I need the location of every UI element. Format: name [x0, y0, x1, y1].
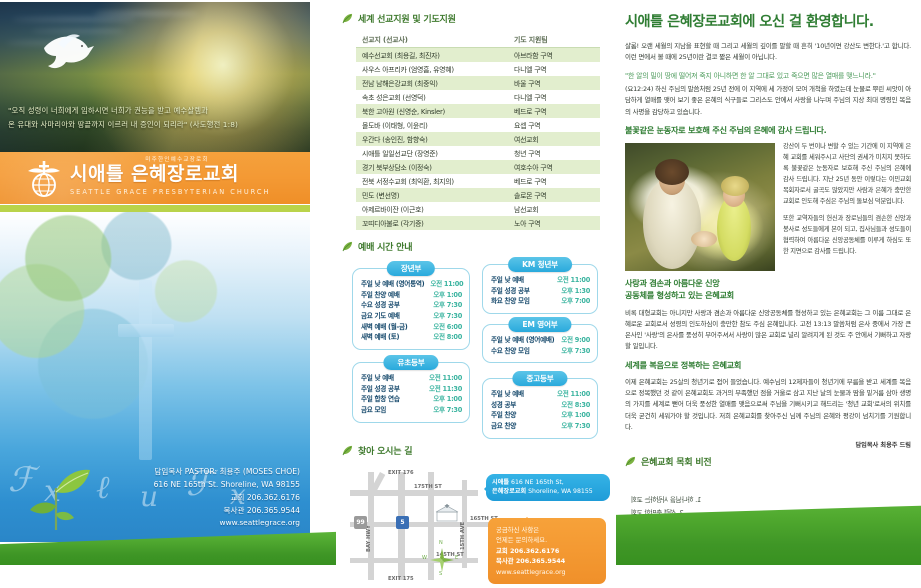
mission-field-cell: 사우스 아프리카 (엄영흠, 유영혜) — [356, 62, 508, 76]
church-logo-banner: 미주한인예수교장로회 시애틀 은혜장로교회 SEATTLE GRACE PRES… — [0, 152, 310, 204]
schedule-item-name: 금요 찬양 — [491, 421, 516, 432]
directions-section-header: 찾아 오시는 길 — [342, 444, 616, 457]
schedule-row: 주일 찬양 예배오후 1:00 — [361, 290, 462, 301]
mission-field-cell: 속초 성은교회 (선영덕) — [356, 90, 508, 104]
mission-field-cell: 예수선교회 (최용길, 최진자) — [356, 48, 508, 63]
mission-prayerteam-cell: 솔로몬 구역 — [508, 188, 600, 202]
mission-prayerteam-cell: 여선교회 — [508, 132, 600, 146]
leaf-bullet-icon — [342, 241, 353, 252]
schedule-row: 주일 합창 연습오후 1:00 — [361, 394, 462, 405]
mission-section-header: 세계 선교지원 및 기도지원 — [342, 12, 616, 25]
schedule-item-time: 오전 11:00 — [423, 373, 462, 384]
schedule-row: 금요 찬양오후 7:30 — [491, 421, 590, 432]
church-building-map-icon — [434, 504, 460, 522]
mission-field-cell: 민도 (변선명) — [356, 188, 508, 202]
callout-address-1: 616 NE 165th St, — [511, 479, 564, 486]
schedule-box-children: 유초등부 주일 낮 예배오전 11:00주일 성경 공부오전 11:30주일 합… — [352, 362, 470, 423]
mission-field-cell: 경기 북부상담소 (이정숙) — [356, 160, 508, 174]
schedule-box-km-youngadult: KM 청년부 주일 낮 예배오전 11:00주일 성경 공부오후 1:30화요 … — [482, 264, 598, 314]
callout-church-name-2: 은혜장로교회 — [492, 488, 526, 495]
vision-section-header: 은혜교회 목회 비전 — [625, 455, 911, 468]
compass-s: S — [439, 571, 442, 577]
mission-prayerteam-cell: 다니엘 구역 — [508, 62, 600, 76]
mission-field-cell: 전남 남해은강교회 (최중익) — [356, 76, 508, 90]
schedule-item-time: 오후 1:30 — [555, 286, 590, 297]
interstate-5-shield-icon: 5 — [396, 516, 409, 529]
schedule-title-em: EM 영어부 — [508, 317, 571, 332]
schedule-item-name: 주일 낮 예배 (영어예배) — [491, 335, 554, 346]
address-line: 616 NE 165th St. Shoreline, WA 98155 — [86, 478, 300, 491]
mission-field-cell: 우간다 (송인진, 함향숙) — [356, 132, 508, 146]
mission-table-row: 민도 (변선명)솔로몬 구역 — [356, 188, 600, 202]
mission-col-prayerteam: 기도 지원팀 — [508, 32, 600, 48]
website-line[interactable]: www.seattlegrace.org — [86, 517, 300, 530]
schedule-box-adult: 장년부 주일 낮 예배 (영어통역)오전 11:00주일 찬양 예배오후 1:0… — [352, 268, 470, 350]
schedule-item-name: 금요 모임 — [361, 405, 386, 416]
schedule-item-name: 주일 찬양 예배 — [361, 290, 400, 301]
schedule-item-time: 오후 7:30 — [555, 421, 590, 432]
schedule-item-time: 오전 11:00 — [551, 389, 590, 400]
subheading-community: 사랑과 겸손과 아름다운 신앙 공동체를 형성하고 있는 은혜교회 — [625, 278, 911, 302]
mission-prayerteam-cell: 베드로 구역 — [508, 174, 600, 188]
mission-table-row: 전북 서정수교회 (최익환, 최지의)베드로 구역 — [356, 174, 600, 188]
schedule-item-time: 오전 11:00 — [551, 275, 590, 286]
compass-rose-icon: N E W S — [428, 546, 456, 574]
verse-line-1: "오직 성령이 너희에게 임하시면 너희가 권능을 받고 예수살렘과 — [8, 104, 308, 118]
mission-prayerteam-cell: 아브라함 구역 — [508, 48, 600, 63]
schedule-item-time: 오전 6:00 — [427, 322, 462, 333]
schedule-item-name: 주일 합창 연습 — [361, 394, 400, 405]
map-inquiry-box: 궁금하신 사항은 언제든 문의하세요. 교회 206.362.6176 목사관 … — [488, 518, 606, 584]
schedule-item-time: 오후 7:30 — [427, 405, 462, 416]
jesus-with-child-photo — [625, 143, 775, 271]
mission-field-cell: 몰도바 (이태형, 이윤리) — [356, 118, 508, 132]
brochure-page: "오직 성령이 너희에게 임하시면 너희가 권능을 받고 예수살렘과 온 유대와… — [0, 0, 921, 565]
callout-address-2: Shoreline, WA 98155 — [528, 488, 593, 495]
mission-header-label: 세계 선교지원 및 기도지원 — [358, 12, 456, 25]
mission-field-cell: 아제르바이잔 (이근호) — [356, 202, 508, 216]
schedule-item-name: 주일 성경 공부 — [491, 286, 530, 297]
schedule-item-name: 성경 공부 — [491, 400, 516, 411]
schedule-row: 성경 공부오전 8:30 — [491, 400, 590, 411]
vision-header-label: 은혜교회 목회 비전 — [641, 455, 712, 468]
schedule-header-label: 예배 시간 안내 — [358, 240, 412, 253]
schedule-item-name: 새벽 예배 (토) — [361, 332, 399, 343]
subheading-world-gospel: 세계를 복음으로 정복하는 은혜교회 — [625, 360, 911, 371]
schedule-item-name: 화요 찬양 모임 — [491, 296, 530, 307]
schedule-row: 주일 성경 공부오전 11:30 — [361, 384, 462, 395]
location-map[interactable]: EXIT 176 EXIT 175 175TH ST 165TH ST 145T… — [336, 460, 616, 588]
schedule-box-em-english: EM 영어부 주일 낮 예배 (영어예배)오전 9:00수요 찬양 모임오후 7… — [482, 324, 598, 363]
schedule-title-km: KM 청년부 — [508, 257, 572, 272]
map-label-15thave: 15TH AVE — [460, 522, 466, 550]
inquiry-line-1: 궁금하신 사항은 — [496, 525, 598, 535]
church-phone-line: 교회 206.362.6176 — [86, 491, 300, 504]
welcome-paragraph-3: 비록 대형교회는 아니지만 사랑과 겸손과 아름다운 신앙공동체를 형성하고 있… — [625, 308, 911, 353]
worship-schedule-group: 장년부 주일 낮 예배 (영어통역)오전 11:00주일 찬양 예배오후 1:0… — [336, 262, 616, 438]
welcome-title: 시애틀 은혜장로교회에 오신 걸 환영합니다. — [625, 14, 911, 32]
leaf-bullet-icon — [342, 13, 353, 24]
vision-item: 1. 하나님을 사랑하는 교회 — [631, 494, 911, 507]
mission-table-header-row: 선교지 (선교사) 기도 지원팀 — [356, 32, 600, 48]
schedule-row: 주일 낮 예배오전 11:00 — [491, 389, 590, 400]
schedule-row: 주일 성경 공부오후 1:30 — [491, 286, 590, 297]
schedule-row: 새벽 예배 (토)오전 8:00 — [361, 332, 462, 343]
mission-col-field: 선교지 (선교사) — [356, 32, 508, 48]
scripture-quote-john12: "한 알의 밀이 땅에 떨어져 죽지 아니하면 한 알 그대로 있고 죽으면 많… — [625, 70, 911, 82]
church-name-english: SEATTLE GRACE PRESBYTERIAN CHURCH — [70, 188, 270, 196]
pastor-signature: 담임목사 최용주 드림 — [625, 440, 911, 449]
schedule-row: 주일 낮 예배오전 11:00 — [361, 373, 462, 384]
schedule-item-name: 주일 낮 예배 (영어통역) — [361, 279, 424, 290]
schedule-item-time: 오전 8:30 — [555, 400, 590, 411]
mission-prayerteam-cell: 노아 구역 — [508, 216, 600, 230]
map-label-175th: 175TH ST — [414, 484, 442, 490]
map-address-callout: 시애틀 616 NE 165th St, 은혜장로교회 Shoreline, W… — [486, 474, 610, 501]
schedule-row: 주일 찬양오후 1:00 — [491, 410, 590, 421]
schedule-item-time: 오후 7:00 — [555, 296, 590, 307]
mission-table-row: 시애틀 일일선교단 (장영준)청년 구역 — [356, 146, 600, 160]
mission-table-row: 우간다 (송인진, 함향숙)여선교회 — [356, 132, 600, 146]
inquiry-parsonage-phone: 목사관 206.365.9544 — [496, 557, 565, 565]
schedule-item-name: 수요 성경 공부 — [361, 300, 400, 311]
leaf-bullet-icon — [342, 445, 353, 456]
highway-99-shield-icon: 99 — [354, 516, 367, 529]
schedule-box-youth: 중고등부 주일 낮 예배오전 11:00성경 공부오전 8:30주일 찬양오후 … — [482, 378, 598, 439]
mission-table-row: 몰도바 (이태형, 이윤리)요셉 구역 — [356, 118, 600, 132]
mission-prayerteam-cell: 다니엘 구역 — [508, 90, 600, 104]
inquiry-line-2: 언제든 문의하세요. — [496, 535, 598, 545]
subheading-community-line1: 사랑과 겸손과 아름다운 신앙 — [625, 278, 911, 290]
verse-line-2: 온 유대와 사마리아와 땅끝까지 이르러 내 증인이 되리라" (사도행전 1:… — [8, 118, 308, 132]
left-panel: "오직 성령이 너희에게 임하시면 너희가 권능을 받고 예수살렘과 온 유대와… — [0, 0, 336, 565]
schedule-item-name: 금요 기도 예배 — [361, 311, 400, 322]
mission-prayerteam-cell: 요셉 구역 — [508, 118, 600, 132]
church-name-korean: 시애틀 은혜장로교회 — [70, 163, 270, 187]
subheading-community-line2: 공동체를 형성하고 있는 은혜교회 — [625, 290, 911, 302]
schedule-item-name: 주일 성경 공부 — [361, 384, 400, 395]
schedule-item-time: 오후 7:30 — [427, 311, 462, 322]
map-label-exit176: EXIT 176 — [388, 470, 414, 476]
schedule-row: 주일 낮 예배 (영어통역)오전 11:00 — [361, 279, 462, 290]
leaf-sprout-icon — [22, 458, 92, 530]
mission-table-row: 속초 성은교회 (선영덕)다니엘 구역 — [356, 90, 600, 104]
schedule-row: 수요 성경 공부오후 7:30 — [361, 300, 462, 311]
schedule-item-name: 주일 찬양 — [491, 410, 516, 421]
map-label-exit175: EXIT 175 — [388, 576, 414, 582]
parsonage-phone-line: 목사관 206.365.9544 — [86, 504, 300, 517]
schedule-row: 화요 찬양 모임오후 7:00 — [491, 296, 590, 307]
compass-w: W — [422, 555, 427, 561]
mission-field-cell: 전북 서정수교회 (최익환, 최지의) — [356, 174, 508, 188]
schedule-row: 새벽 예배 (월-금)오전 6:00 — [361, 322, 462, 333]
pastor-line: 담임목사 PASTOR: 최용주 (MOSES CHOE) — [86, 465, 300, 478]
schedule-row: 주일 낮 예배오전 11:00 — [491, 275, 590, 286]
schedule-item-time: 오후 7:30 — [555, 346, 590, 357]
bible-verse-overlay: "오직 성령이 너희에게 임하시면 너희가 권능을 받고 예수살렘과 온 유대와… — [8, 104, 308, 131]
inquiry-website[interactable]: www.seattlegrace.org — [496, 567, 598, 577]
schedule-item-time: 오후 1:00 — [555, 410, 590, 421]
schedule-item-time: 오후 1:00 — [427, 394, 462, 405]
jesus-image-text-block: 강산이 두 번이나 변할 수 있는 기간에 이 지역에 은혜 교회를 세워주시고… — [625, 142, 911, 276]
welcome-paragraph-2: (요12:24) 하신 주님의 말씀처럼 25년 전에 이 지역에 세 가정이 … — [625, 84, 911, 118]
schedule-item-time: 오전 11:00 — [424, 279, 463, 290]
church-globe-cross-logo-icon — [24, 158, 64, 198]
mission-table-row: 경기 북부상담소 (이정숙)여호수아 구역 — [356, 160, 600, 174]
schedule-item-time: 오후 1:00 — [427, 290, 462, 301]
schedule-item-time: 오전 8:00 — [427, 332, 462, 343]
schedule-row: 주일 낮 예배 (영어예배)오전 9:00 — [491, 335, 590, 346]
middle-column: 세계 선교지원 및 기도지원 선교지 (선교사) 기도 지원팀 예수선교회 (최… — [336, 0, 616, 565]
mission-field-cell: 북한 고아원 (신영순, Kinsler) — [356, 104, 508, 118]
schedule-row: 금요 기도 예배오후 7:30 — [361, 311, 462, 322]
callout-church-name-1: 시애틀 — [492, 479, 509, 486]
denomination-label: 미주한인예수교장로회 — [92, 155, 262, 163]
logo-text-group: 미주한인예수교장로회 시애틀 은혜장로교회 SEATTLE GRACE PRES… — [70, 155, 270, 196]
mission-prayerteam-cell: 남선교회 — [508, 202, 600, 216]
map-label-bayhwy: BAY HWY — [366, 525, 372, 552]
mission-field-cell: 꼬띠디아불로 (각기증) — [356, 216, 508, 230]
schedule-item-name: 새벽 예배 (월-금) — [361, 322, 407, 333]
schedule-item-name: 주일 낮 예배 — [361, 373, 394, 384]
compass-e: E — [455, 555, 458, 561]
leaf-bullet-icon — [625, 456, 636, 467]
schedule-title-adult: 장년부 — [387, 261, 435, 276]
mission-prayerteam-cell: 베드로 구역 — [508, 104, 600, 118]
mission-table-row: 꼬띠디아불로 (각기증)노아 구역 — [356, 216, 600, 230]
contact-info-block: 담임목사 PASTOR: 최용주 (MOSES CHOE) 616 NE 165… — [86, 458, 310, 538]
mission-table-row: 예수선교회 (최용길, 최진자)아브라함 구역 — [356, 48, 600, 63]
schedule-row: 수요 찬양 모임오후 7:30 — [491, 346, 590, 357]
compass-n: N — [439, 540, 443, 546]
directions-header-label: 찾아 오시는 길 — [358, 444, 412, 457]
inquiry-church-phone: 교회 206.362.6176 — [496, 547, 559, 555]
dove-icon — [36, 28, 100, 74]
mission-prayerteam-cell: 바울 구역 — [508, 76, 600, 90]
welcome-paragraph-4: 이제 은혜교회는 25살의 청년기로 접어 들었습니다. 예수님의 12제자들이… — [625, 377, 911, 433]
mission-table-row: 북한 고아원 (신영순, Kinsler)베드로 구역 — [356, 104, 600, 118]
schedule-row: 금요 모임오후 7:30 — [361, 405, 462, 416]
mission-table-row: 사우스 아프리카 (엄영흠, 유영혜)다니엘 구역 — [356, 62, 600, 76]
schedule-item-name: 수요 찬양 모임 — [491, 346, 530, 357]
schedule-title-children: 유초등부 — [383, 355, 438, 370]
schedule-section-header: 예배 시간 안내 — [342, 240, 616, 253]
right-column: 시애틀 은혜장로교회에 오신 걸 환영합니다. 샬롬! 오랜 세월의 지남을 표… — [616, 0, 921, 565]
schedule-item-time: 오전 11:30 — [423, 384, 462, 395]
subheading-gratitude: 불꽃같은 눈동자로 보호해 주신 주님의 은혜에 감사 드립니다. — [625, 125, 911, 136]
mission-support-table: 선교지 (선교사) 기도 지원팀 예수선교회 (최용길, 최진자)아브라함 구역… — [356, 32, 600, 230]
schedule-item-name: 주일 낮 예배 — [491, 275, 524, 286]
schedule-item-name: 주일 낮 예배 — [491, 389, 524, 400]
schedule-item-time: 오후 7:30 — [427, 300, 462, 311]
mission-prayerteam-cell: 여호수아 구역 — [508, 160, 600, 174]
mission-prayerteam-cell: 청년 구역 — [508, 146, 600, 160]
welcome-paragraph-1: 샬롬! 오랜 세월의 지남을 표현할 때 그리고 세월의 깊이를 말할 때 흔히… — [625, 41, 911, 63]
schedule-item-time: 오전 9:00 — [555, 335, 590, 346]
mission-table-row: 전남 남해은강교회 (최중익)바울 구역 — [356, 76, 600, 90]
mission-field-cell: 시애틀 일일선교단 (장영준) — [356, 146, 508, 160]
mission-table-row: 아제르바이잔 (이근호)남선교회 — [356, 202, 600, 216]
cross-graphic-icon — [118, 280, 174, 460]
green-divider-rule — [0, 205, 310, 212]
schedule-title-youth: 중고등부 — [512, 371, 567, 386]
